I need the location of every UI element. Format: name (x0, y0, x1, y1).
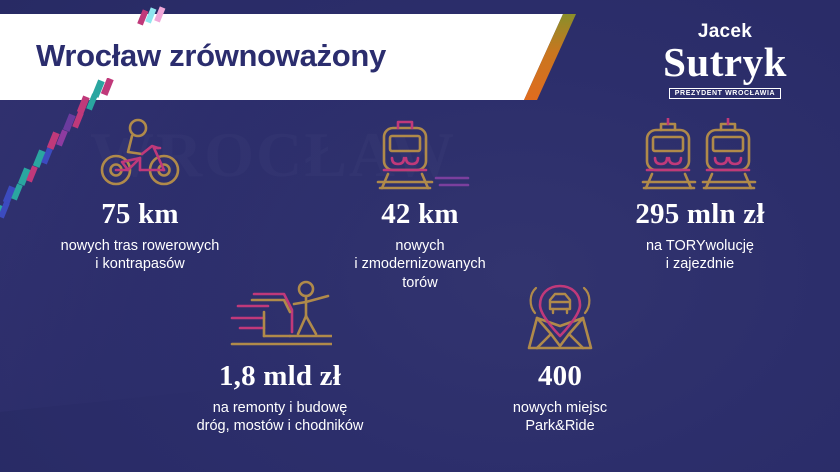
stat-card-bicycle: 75 km nowych tras rowerowych i kontrapas… (0, 118, 280, 292)
park-and-ride-map-icon (517, 280, 603, 352)
stat-value: 42 km (381, 200, 459, 230)
stat-label-line: i zmodernizowanych (354, 255, 485, 274)
stat-label: na TORYwolucję i zajezdnie (646, 237, 754, 274)
stat-label: na remonty i budowę dróg, mostów i chodn… (197, 399, 364, 436)
stat-card-tram: 42 km nowych i zmodernizowanych torów (280, 118, 560, 292)
stats-row-bottom: 1,8 mld zł na remonty i budowę dróg, mos… (0, 280, 840, 436)
stat-value: 1,8 mld zł (219, 362, 341, 392)
car-pedestrian-icon (228, 280, 332, 352)
page-title: Wrocław zrównoważony (36, 38, 386, 74)
stat-label-line: nowych (354, 237, 485, 256)
stat-value: 400 (538, 362, 582, 392)
stat-value: 295 mln zł (635, 200, 764, 230)
logo-last-name: Sutryk (640, 42, 810, 82)
stat-label: nowych miejsc Park&Ride (513, 399, 607, 436)
stat-label-line: na TORYwolucję (646, 237, 754, 256)
logo-subtitle-badge: PREZYDENT WROCŁAWIA (669, 88, 781, 100)
bicycle-icon (98, 118, 182, 190)
stats-row-top: 75 km nowych tras rowerowych i kontrapas… (0, 118, 840, 292)
stat-card-double-tram: 295 mln zł na TORYwolucję i zajezdnie (560, 118, 840, 292)
tram-icon (370, 118, 470, 190)
stat-label-line: i zajezdnie (646, 255, 754, 274)
brand-logo: Jacek Sutryk PREZYDENT WROCŁAWIA (640, 22, 810, 104)
stat-label-line: nowych miejsc (513, 399, 607, 418)
stat-label-line: i kontrapasów (61, 255, 220, 274)
stat-label: nowych tras rowerowych i kontrapasów (61, 237, 220, 274)
infographic-slide: WROCŁAW Wrocław zrównoważony (0, 0, 840, 472)
stat-label-line: dróg, mostów i chodników (197, 417, 364, 436)
double-tram-icon (641, 118, 759, 190)
stat-label-line: na remonty i budowę (197, 399, 364, 418)
stat-card-park-and-ride: 400 nowych miejsc Park&Ride (420, 280, 700, 436)
stat-label-line: Park&Ride (513, 417, 607, 436)
stat-value: 75 km (101, 200, 179, 230)
stat-label-line: nowych tras rowerowych (61, 237, 220, 256)
stat-card-roads: 1,8 mld zł na remonty i budowę dróg, mos… (140, 280, 420, 436)
